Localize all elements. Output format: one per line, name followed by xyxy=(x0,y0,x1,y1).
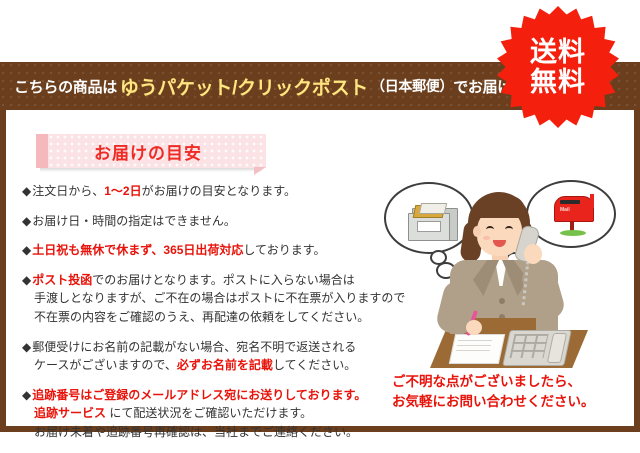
delivery-note-item: ◆追跡番号はご登録のメールアドレス宛にお送りしております。追跡サービス にて配送… xyxy=(22,386,392,442)
delivery-note-line: ◆注文日から、1〜2日がお届けの目安となります。 xyxy=(22,182,392,201)
delivery-notes-list: ◆注文日から、1〜2日がお届けの目安となります。◆お届け日・時間の指定はできませ… xyxy=(22,182,392,453)
emphasis-text: 追跡番号はご登録のメールアドレス宛にお送りしております。 xyxy=(32,388,366,402)
delivery-note-line: 追跡サービス にて配送状況をご確認いただけます。 xyxy=(22,404,392,423)
header-prefix: こちらの商品は xyxy=(14,76,117,97)
ribbon-tab xyxy=(36,134,48,168)
cheek xyxy=(483,236,490,240)
bullet-marker-icon: ◆ xyxy=(22,273,31,287)
note-text: 手渡しとなりますが、ご不在の場合はポストに不在票が入りますので xyxy=(34,291,405,305)
ribbon-fold-corner xyxy=(254,167,266,175)
customer-support-illustration: Mail xyxy=(378,178,628,368)
bullet-marker-icon: ◆ xyxy=(22,184,31,198)
hand-left xyxy=(466,320,482,335)
note-text: にて配送状況をご確認いただけます。 xyxy=(106,406,312,420)
emphasis-text: 追跡サービス xyxy=(34,406,106,420)
contact-note-line-1: ご不明な点がございましたら、 xyxy=(392,372,595,392)
telephone-keypad xyxy=(509,334,548,358)
free-shipping-badge: 送料 無料 xyxy=(497,6,619,128)
thought-bubble-left xyxy=(384,182,474,254)
ear xyxy=(473,226,481,237)
header-carrier: （日本郵便） xyxy=(371,76,453,96)
hand-right xyxy=(524,244,542,264)
header-text: こちらの商品は ゆうパケット/クリックポスト （日本郵便） でお届けします xyxy=(14,62,556,110)
note-text: 注文日から、 xyxy=(32,184,104,198)
emphasis-text: 土日祝も無休で休まず、365日出荷対応 xyxy=(32,243,243,257)
emphasis-text: 必ずお名前を記載 xyxy=(177,358,273,372)
delivery-note-line: ケースがございますので、必ずお名前を記載してください。 xyxy=(22,356,392,375)
blazer-button-1 xyxy=(499,298,505,304)
notepad xyxy=(449,334,505,364)
badge-line-1: 送料 xyxy=(530,38,586,66)
document-box-icon xyxy=(408,202,458,240)
note-text: でのお届けとなります。ポストに入らない場合は xyxy=(92,273,354,287)
note-text: 郵便受けにお名前の記載がない場合、宛名不明で返送される xyxy=(32,340,356,354)
delivery-note-line: ◆追跡番号はご登録のメールアドレス宛にお送りしております。 xyxy=(22,386,392,405)
delivery-note-line: ◆郵便受けにお名前の記載がない場合、宛名不明で返送される xyxy=(22,338,392,357)
note-text: してください。 xyxy=(273,358,356,372)
delivery-note-item: ◆注文日から、1〜2日がお届けの目安となります。 xyxy=(22,182,392,201)
note-text: お届け日・時間の指定はできません。 xyxy=(32,214,236,228)
thought-bubble-right: Mail xyxy=(526,180,616,248)
header-highlight: ゆうパケット/クリックポスト xyxy=(120,73,368,100)
eye-right xyxy=(505,226,513,233)
note-text: 不在票の内容をご確認のうえ、再配達の依頼をしてください。 xyxy=(34,310,369,324)
emphasis-text: 1〜2日 xyxy=(104,184,141,198)
ribbon-shadow xyxy=(40,168,262,172)
note-text: ケースがございますので、 xyxy=(34,358,177,372)
delivery-note-item: ◆土日祝も無休で休まず、365日出荷対応しております。 xyxy=(22,241,392,260)
delivery-note-line: ◆土日祝も無休で休まず、365日出荷対応しております。 xyxy=(22,241,392,260)
delivery-note-line: ◆お届け日・時間の指定はできません。 xyxy=(22,212,392,231)
bullet-marker-icon: ◆ xyxy=(22,388,31,402)
bullet-marker-icon: ◆ xyxy=(22,243,31,257)
delivery-note-line: ◆ポスト投函でのお届けとなります。ポストに入らない場合は xyxy=(22,271,392,290)
notepad-lines xyxy=(458,340,492,341)
contact-note: ご不明な点がございましたら、 お気軽にお問い合わせください。 xyxy=(392,372,595,411)
shipping-info-banner: こちらの商品は ゆうパケット/クリックポスト （日本郵便） でお届けします 送料… xyxy=(0,0,640,432)
emphasis-text: ポスト投函 xyxy=(32,273,92,287)
frame-border-right xyxy=(634,62,640,432)
delivery-note-item: ◆お届け日・時間の指定はできません。 xyxy=(22,212,392,231)
frame-border-left xyxy=(0,62,6,432)
eye-left xyxy=(486,226,494,233)
section-title: お届けの目安 xyxy=(94,134,202,168)
delivery-note-line: 不在票の内容をご確認のうえ、再配達の依頼をしてください。 xyxy=(22,308,392,327)
hair-bangs xyxy=(474,196,525,218)
contact-note-line-2: お気軽にお問い合わせください。 xyxy=(392,392,595,412)
delivery-note-line: お届け未着や追跡番号再確認は、当社までご連絡ください。 xyxy=(22,423,392,442)
delivery-note-item: ◆郵便受けにお名前の記載がない場合、宛名不明で返送されるケースがございますので、… xyxy=(22,338,392,375)
badge-line-2: 無料 xyxy=(530,68,586,96)
section-title-ribbon: お届けの目安 xyxy=(36,134,266,168)
bullet-marker-icon: ◆ xyxy=(22,340,31,354)
badge-text: 送料 無料 xyxy=(497,6,619,128)
delivery-note-item: ◆ポスト投函でのお届けとなります。ポストに入らない場合は手渡しとなりますが、ご不… xyxy=(22,271,392,327)
mailbox-icon: Mail xyxy=(550,192,598,238)
note-text: しております。 xyxy=(243,243,325,257)
note-text: がお届けの目安となります。 xyxy=(142,184,296,198)
mailbox-label: Mail xyxy=(560,207,570,213)
delivery-note-line: 手渡しとなりますが、ご不在の場合はポストに不在票が入りますので xyxy=(22,289,392,308)
bullet-marker-icon: ◆ xyxy=(22,214,31,228)
